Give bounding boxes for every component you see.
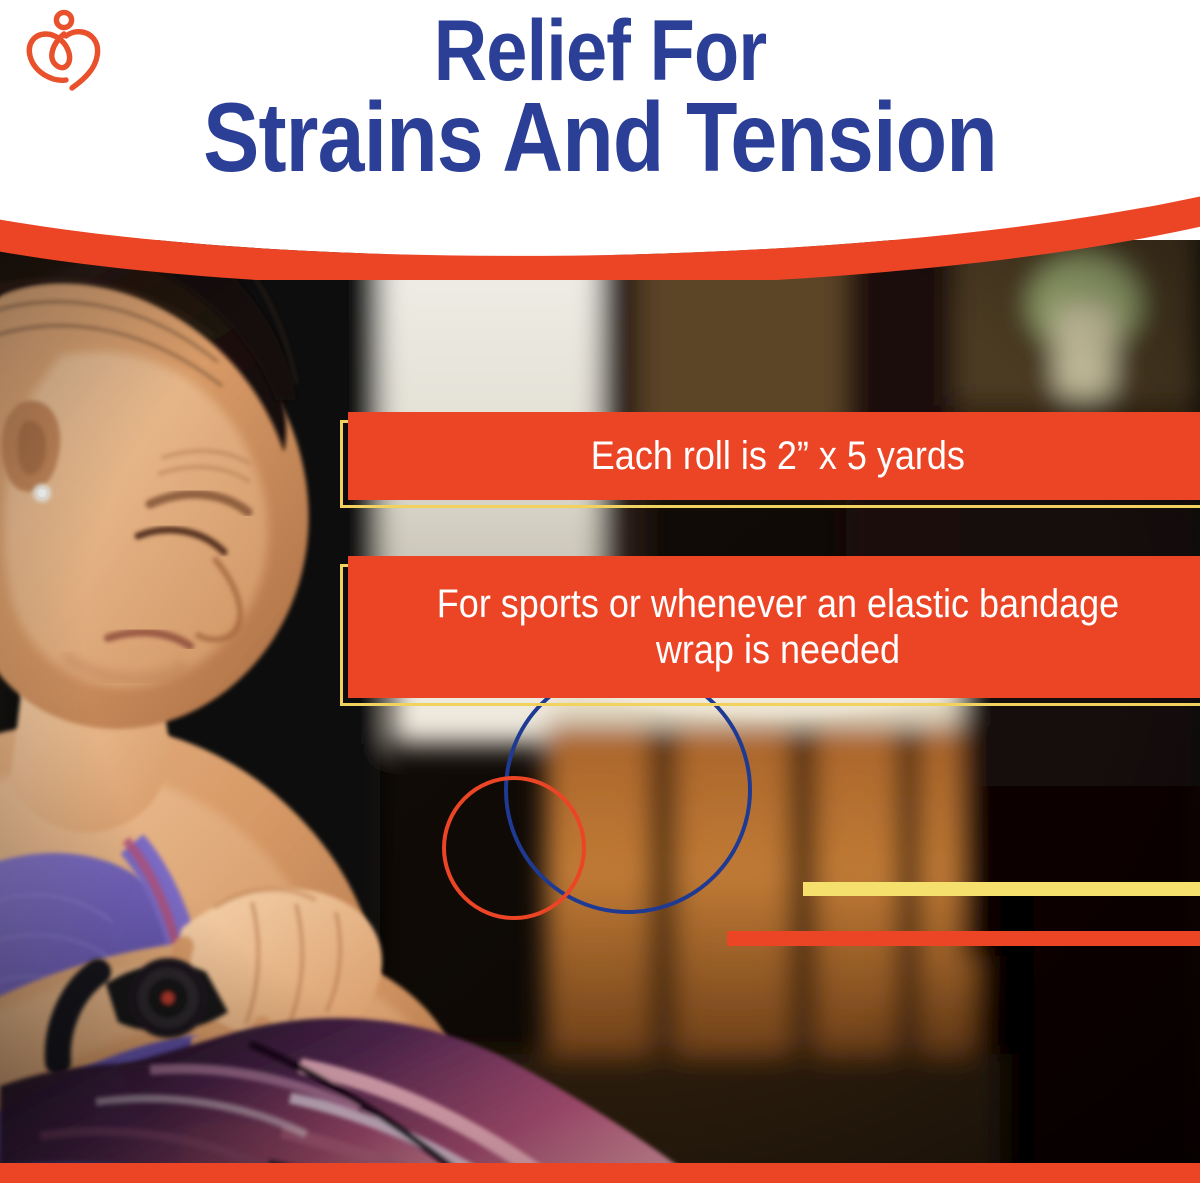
callout-roll-size-text: Each roll is 2” x 5 yards — [566, 433, 991, 479]
callout-usage-text: For sports or whenever an elastic bandag… — [391, 581, 1165, 674]
orange-accent-bar — [727, 931, 1200, 946]
bottom-orange-bar — [0, 1163, 1200, 1183]
promotional-banner: Relief For Strains And Tension Each roll… — [0, 0, 1200, 1183]
title-line-1: Relief For — [84, 12, 1116, 92]
page-title: Relief For Strains And Tension — [0, 12, 1200, 183]
callout-roll-size: Each roll is 2” x 5 yards — [348, 412, 1200, 500]
title-line-2: Strains And Tension — [84, 92, 1116, 183]
callout-usage: For sports or whenever an elastic bandag… — [348, 556, 1200, 698]
yellow-accent-bar — [803, 882, 1200, 896]
heart-person-logo-icon — [22, 8, 106, 92]
